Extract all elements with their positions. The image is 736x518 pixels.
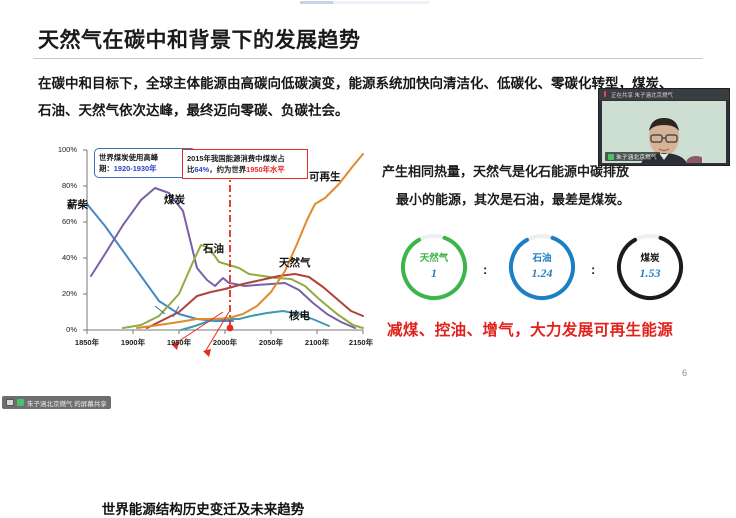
ring-natural-gas-label: 天然气: [420, 253, 449, 266]
callout-coal-peak-line2: 期：1920-1930年: [99, 163, 191, 174]
y-tick-100: 100%: [51, 145, 77, 154]
y-tick-20: 20%: [51, 289, 77, 298]
right-paragraph-line2: 最小的能源，其次是石油，最差是煤炭。: [382, 186, 712, 214]
callout-coal-peak: 世界煤炭使用高峰 期：1920-1930年: [94, 148, 196, 178]
x-tick-2050: 2050年: [251, 337, 291, 348]
title-divider: [33, 58, 703, 59]
webcam-video: 朱子涵北京燃气: [602, 101, 726, 163]
webcam-pip-header-label: 正在共享 朱子涵北京燃气: [611, 91, 673, 99]
ring-coal-value: 1.53: [640, 266, 661, 281]
callout-china-2015-line1: 2015年我国能源消费中煤炭占: [187, 153, 303, 164]
series-line-natural-gas: [147, 274, 363, 328]
screen-share-bar[interactable]: 朱子涵北京燃气 的屏幕共享: [2, 396, 111, 409]
ring-natural-gas: 天然气 1: [395, 228, 473, 306]
ring-oil-value: 1.24: [532, 266, 553, 281]
y-tick-80: 80%: [51, 181, 77, 190]
top-progress-bar[interactable]: [0, 0, 736, 4]
callout-china-2015-year: 1950年水平: [246, 165, 285, 174]
x-tick-1850: 1850年: [67, 337, 107, 348]
ratio-separator-1: :: [483, 262, 487, 277]
callout-coal-peak-highlight: 1920-1930年: [114, 164, 157, 173]
slide-canvas: 天然气在碳中和背景下的发展趋势 在碳中和目标下，全球主体能源由高碳向低碳演变，能…: [0, 0, 736, 414]
chart-caption: 世界能源结构历史变迁及未来趋势: [33, 498, 373, 518]
page-title: 天然气在碳中和背景下的发展趋势: [38, 24, 638, 54]
callout-coal-peak-prefix: 期：: [99, 164, 114, 173]
series-label-renewable: 可再生: [309, 169, 341, 184]
ratio-separator-2: :: [591, 262, 595, 277]
recording-icon: [602, 91, 608, 98]
x-tick-2150: 2150年: [341, 337, 381, 348]
webcam-pip-header: 正在共享 朱子涵北京燃气: [599, 89, 729, 100]
emission-ratio-rings: 天然气 1 : 石油 1.24 : 煤炭 1.53: [395, 228, 695, 306]
y-tick-60: 60%: [51, 217, 77, 226]
callout-coal-peak-line1: 世界煤炭使用高峰: [99, 152, 191, 163]
monitor-icon: [6, 399, 14, 406]
webcam-name-tag: 朱子涵北京燃气: [605, 152, 660, 161]
callout-china-2015-b: ，约为世界: [209, 165, 246, 174]
share-status-icon: [17, 399, 24, 406]
participant-icon: [608, 154, 614, 160]
series-label-nuclear: 核电: [289, 308, 310, 323]
lead-paragraph: 在碳中和目标下，全球主体能源由高碳向低碳演变，能源系统加快向清洁化、低碳化、零碳…: [38, 70, 678, 124]
webcam-name-label: 朱子涵北京燃气: [616, 152, 657, 161]
x-tick-2000: 2000年: [205, 337, 245, 348]
callout-china-2015-line2: 比64%，约为世界1950年水平: [187, 164, 303, 175]
screen-share-label: 朱子涵北京燃气 的屏幕共享: [27, 398, 107, 408]
series-label-natural-gas: 天然气: [279, 255, 311, 270]
series-line-coal: [91, 188, 355, 328]
ring-natural-gas-value: 1: [431, 266, 437, 281]
callout-china-2015: 2015年我国能源消费中煤炭占 比64%，约为世界1950年水平: [182, 149, 308, 179]
series-label-coal: 煤炭: [164, 192, 185, 207]
webcam-pip[interactable]: 正在共享 朱子涵北京燃气 朱子涵北京燃气: [598, 88, 730, 166]
slogan-text: 减煤、控油、增气，大力发展可再生能源: [387, 318, 707, 340]
right-paragraph-line1: 产生相同热量，天然气是化石能源中碳排放: [382, 164, 629, 179]
ring-coal: 煤炭 1.53: [611, 228, 689, 306]
callout-china-2015-pct: 64%: [194, 165, 209, 174]
ring-coal-label: 煤炭: [640, 253, 659, 266]
series-label-oil: 石油: [203, 241, 224, 256]
x-tick-2100: 2100年: [297, 337, 337, 348]
series-line-firewood: [87, 204, 233, 321]
y-tick-40: 40%: [51, 253, 77, 262]
ring-oil-label: 石油: [532, 253, 551, 266]
x-tick-1900: 1900年: [113, 337, 153, 348]
right-paragraph: 产生相同热量，天然气是化石能源中碳排放 最小的能源，其次是石油，最差是煤炭。: [382, 158, 712, 214]
progress-fill: [300, 1, 333, 4]
series-label-firewood: 薪柴: [67, 197, 88, 212]
y-tick-0: 0%: [51, 325, 77, 334]
page-number: 6: [682, 368, 687, 378]
ring-oil: 石油 1.24: [503, 228, 581, 306]
x-tick-1950: 1950年: [159, 337, 199, 348]
